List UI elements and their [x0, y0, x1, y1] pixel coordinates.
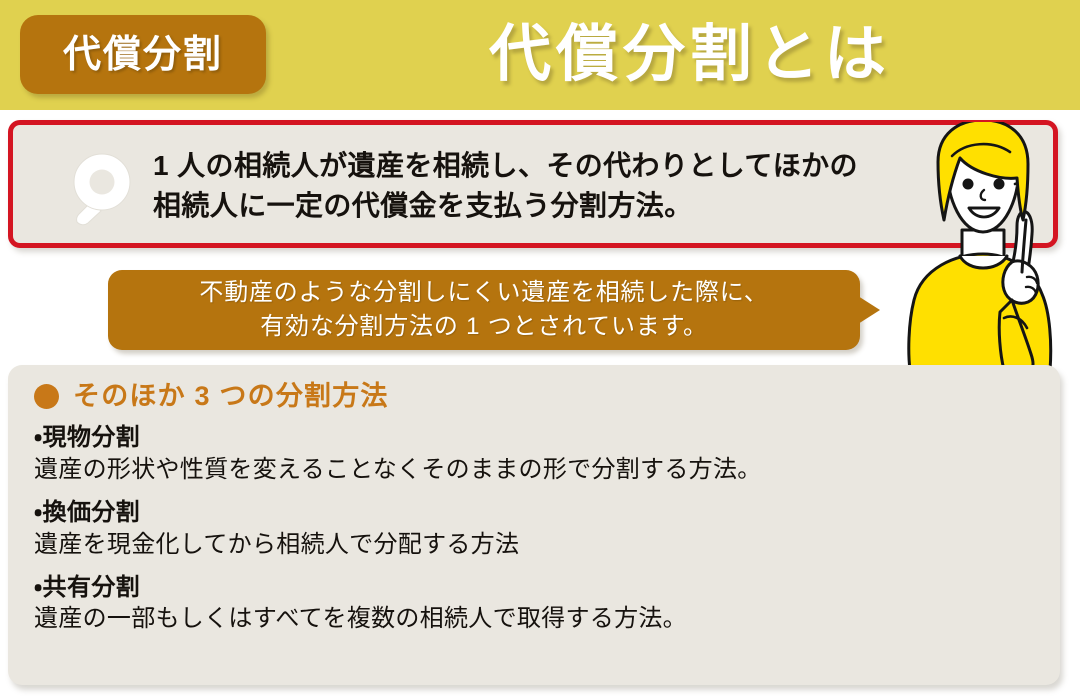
speech-bubble-line-1: 不動産のような分割しにくい遺産を相続した際に、	[199, 276, 768, 310]
method-item: ・換価分割 遺産を現金化してから相続人で分配する方法	[34, 497, 1034, 561]
filled-circle-bullet-icon	[34, 384, 59, 409]
definition-text: 1 人の相続人が遺産を相続し、その代わりとしてほかの 相続人に一定の代償金を支払…	[153, 146, 943, 226]
method-item: ・共有分割 遺産の一部もしくはすべてを複数の相続人で取得する方法。	[34, 572, 1034, 636]
method-item: ・現物分割 遺産の形状や性質を変えることなくそのままの形で分割する方法。	[34, 422, 1034, 486]
magnifier-icon	[59, 151, 137, 235]
infographic-page: 代償分割 代償分割とは 1 人の相続人が遺産を相続し、その代わりとしてほかの 相…	[0, 0, 1080, 700]
method-description: 遺産の一部もしくはすべてを複数の相続人で取得する方法。	[34, 603, 1034, 635]
speech-bubble-line-2: 有効な分割方法の 1 つとされています。	[260, 310, 708, 344]
definition-line-1: 1 人の相続人が遺産を相続し、その代わりとしてほかの	[153, 146, 943, 186]
method-description: 遺産の形状や性質を変えることなくそのままの形で分割する方法。	[34, 454, 1034, 486]
header-badge: 代償分割	[20, 15, 266, 94]
speech-bubble-tail	[858, 296, 880, 324]
page-title-text: 代償分割とは	[489, 24, 891, 86]
header-badge-label: 代償分割	[63, 36, 223, 74]
method-description: 遺産を現金化してから相続人で分配する方法	[34, 529, 1034, 561]
method-title: ・共有分割	[34, 572, 1034, 604]
other-methods-heading-label: そのほか 3 つの分割方法	[73, 383, 389, 410]
page-title: 代償分割とは	[300, 0, 1080, 110]
definition-line-2: 相続人に一定の代償金を支払う分割方法。	[153, 186, 943, 226]
pointing-woman-illustration	[900, 122, 1080, 370]
other-methods-panel: そのほか 3 つの分割方法 ・現物分割 遺産の形状や性質を変えることなくそのまま…	[8, 365, 1060, 685]
method-title: ・現物分割	[34, 422, 1034, 454]
method-title: ・換価分割	[34, 497, 1034, 529]
speech-bubble: 不動産のような分割しにくい遺産を相続した際に、 有効な分割方法の 1 つとされて…	[108, 270, 860, 350]
header-band: 代償分割 代償分割とは	[0, 0, 1080, 110]
other-methods-heading: そのほか 3 つの分割方法	[34, 383, 1034, 410]
